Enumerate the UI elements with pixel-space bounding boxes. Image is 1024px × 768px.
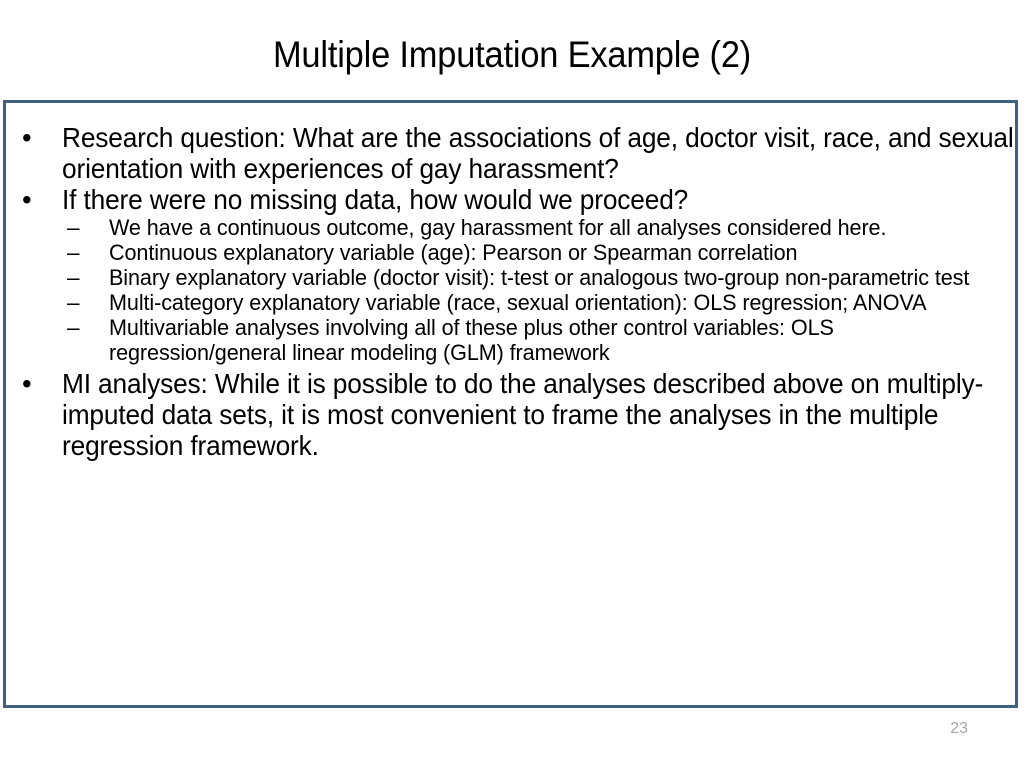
sub-bullet-list: – We have a continuous outcome, gay hara… (6, 215, 1015, 365)
list-item-text: MI analyses: While it is possible to do … (62, 368, 1015, 461)
list-item: • If there were no missing data, how wou… (16, 184, 1015, 215)
list-item-text: Multi-category explanatory variable (rac… (109, 290, 1015, 315)
dash-marker-icon: – (67, 240, 93, 265)
list-item: – Multivariable analyses involving all o… (63, 315, 1015, 365)
dash-marker-icon: – (67, 290, 93, 315)
dash-marker-icon: – (67, 265, 93, 290)
list-item-text: Multivariable analyses involving all of … (109, 315, 1015, 365)
list-item: – Multi-category explanatory variable (r… (63, 290, 1015, 315)
bullet-list: • Research question: What are the associ… (6, 122, 1015, 461)
dash-marker-icon: – (67, 215, 93, 240)
list-item: – Binary explanatory variable (doctor vi… (63, 265, 1015, 290)
list-item-text: If there were no missing data, how would… (62, 184, 1015, 215)
list-item: – Continuous explanatory variable (age):… (63, 240, 1015, 265)
list-item-text: We have a continuous outcome, gay harass… (109, 215, 1015, 240)
content-box: • Research question: What are the associ… (3, 100, 1018, 708)
list-item: • Research question: What are the associ… (16, 122, 1015, 184)
bullet-marker-icon: • (22, 122, 46, 153)
list-item: • MI analyses: While it is possible to d… (16, 368, 1015, 461)
list-item-text: Research question: What are the associat… (62, 122, 1015, 184)
page-number: 23 (950, 720, 968, 738)
page-title: Multiple Imputation Example (2) (36, 33, 988, 77)
bullet-marker-icon: • (22, 184, 46, 215)
list-item-text: Continuous explanatory variable (age): P… (109, 240, 1015, 265)
list-item: – We have a continuous outcome, gay hara… (63, 215, 1015, 240)
bullet-marker-icon: • (22, 368, 46, 399)
slide: Multiple Imputation Example (2) • Resear… (0, 0, 1024, 768)
dash-marker-icon: – (67, 315, 93, 340)
list-item-text: Binary explanatory variable (doctor visi… (109, 265, 1015, 290)
